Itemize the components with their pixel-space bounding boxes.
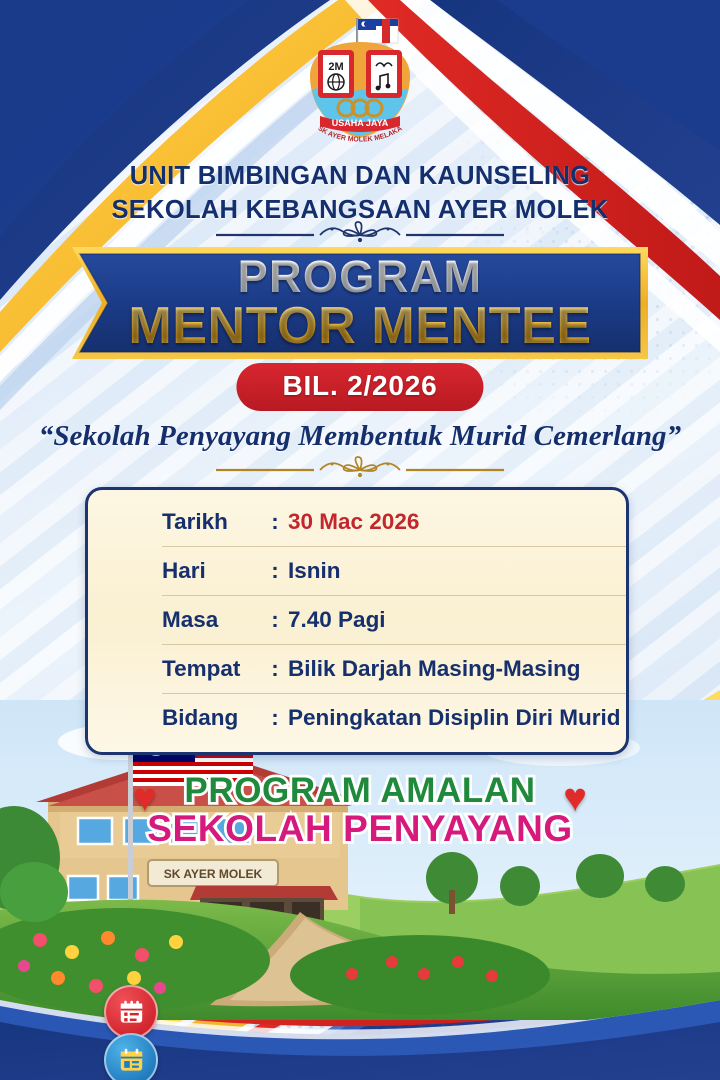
detail-colon-2: : — [262, 607, 288, 633]
banner-line-1: PROGRAM AMALAN — [0, 772, 720, 809]
detail-row-tarikh: Tarikh : 30 Mac 2026 — [162, 498, 626, 547]
title-ribbon: PROGRAM MENTOR MENTEE — [70, 243, 650, 363]
calendar-date-icon — [104, 985, 158, 1039]
detail-value-masa: 7.40 Pagi — [288, 607, 386, 633]
detail-colon-3: : — [262, 656, 288, 682]
detail-label-masa: Masa — [162, 607, 218, 632]
header-text: UNIT BIMBINGAN DAN KAUNSELING SEKOLAH KE… — [0, 160, 720, 227]
tagline: “Sekolah Penyayang Membentuk Murid Cemer… — [0, 420, 720, 453]
details-card: Tarikh : 30 Mac 2026 Hari : Isnin — [85, 487, 629, 755]
header-line-1: UNIT BIMBINGAN DAN KAUNSELING — [0, 160, 720, 194]
detail-label-bidang: Bidang — [162, 705, 238, 730]
detail-label-hari: Hari — [162, 558, 206, 583]
school-sign-text: SK AYER MOLEK — [164, 867, 263, 881]
crest-motto-text: USAHA JAYA — [332, 118, 389, 128]
detail-value-tarikh: 30 Mac 2026 — [288, 509, 419, 535]
detail-colon-4: : — [262, 705, 288, 731]
edition-badge: BIL. 2/2026 — [236, 363, 483, 411]
banner-line-2: SEKOLAH PENYAYANG — [0, 809, 720, 848]
crest-book-left-text: 2M — [328, 61, 343, 73]
calendar-day-icon — [104, 1033, 158, 1080]
heart-left-icon: ♥ — [133, 778, 157, 818]
detail-value-bidang: Peningkatan Disiplin Diri Murid — [288, 705, 621, 731]
ornament-divider-gold — [210, 455, 510, 483]
detail-row-bidang: Bidang : Peningkatan Disiplin Diri Murid — [162, 694, 626, 742]
detail-value-hari: Isnin — [288, 558, 341, 584]
detail-value-tempat: Bilik Darjah Masing-Masing — [288, 656, 581, 682]
bottom-banner: ♥ ♥ PROGRAM AMALAN SEKOLAH PENYAYANG — [0, 772, 720, 848]
detail-row-masa: Masa : 7.40 Pagi — [162, 596, 626, 645]
tagline-text: “Sekolah Penyayang Membentuk Murid Cemer… — [39, 420, 682, 452]
poster-root: SK AYER MOLEK — [0, 0, 720, 1080]
sk-ayer-molek-crest: 2M USAHA JAYA SK AYER MOLEK MELAKA — [294, 16, 426, 156]
heart-right-icon: ♥ — [563, 778, 587, 818]
detail-row-hari: Hari : Isnin — [162, 547, 626, 596]
detail-colon-0: : — [262, 509, 288, 535]
detail-row-tempat: Tempat : Bilik Darjah Masing-Masing — [162, 645, 626, 694]
detail-label-tempat: Tempat — [162, 656, 240, 681]
detail-label-tarikh: Tarikh — [162, 509, 228, 534]
edition-badge-text: BIL. 2/2026 — [282, 370, 437, 401]
detail-colon-1: : — [262, 558, 288, 584]
